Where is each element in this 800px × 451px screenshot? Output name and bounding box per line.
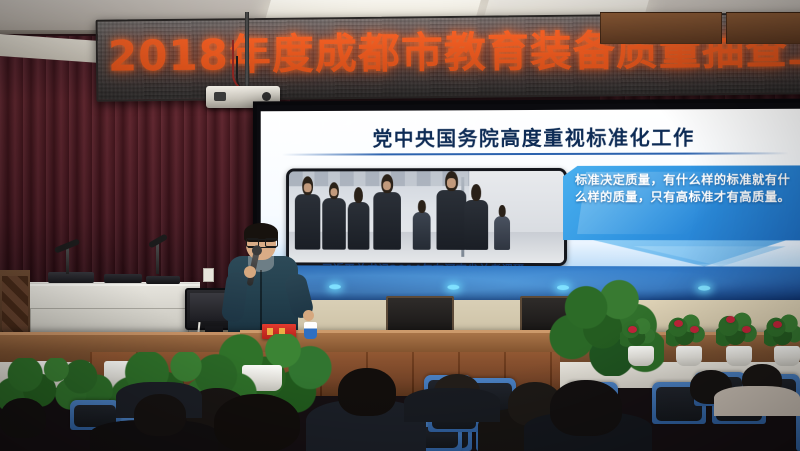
band-glow-dot [447, 285, 459, 290]
slide-title-rule [282, 152, 789, 155]
flower-foliage [764, 312, 800, 350]
photo-figure [413, 212, 431, 250]
audience-head [0, 398, 46, 438]
band-glow-dot [329, 284, 341, 289]
audience-head [214, 394, 300, 451]
flower-foliage [716, 310, 758, 350]
red-flower [742, 326, 751, 333]
photo-figure-face [304, 183, 312, 192]
slide-quote-block: 标准决定质量，有什么样的标准就有什么样的质量，只有高标准才有高质量。 [563, 165, 800, 270]
photo-figure-face [331, 188, 338, 196]
audience-head [550, 380, 622, 436]
photo-figure [464, 200, 488, 250]
audience-shoulders [714, 386, 800, 416]
photo-figure [322, 198, 346, 250]
red-flower [726, 316, 735, 323]
presentation-slide: 党中央国务院高度重视标准化工作 [261, 109, 800, 314]
photo-figure-head [418, 200, 425, 213]
microphone-stand-secondary [156, 244, 159, 274]
audience-shoulders [404, 388, 500, 422]
laptop-device[interactable] [104, 274, 142, 283]
photo-figure [373, 192, 401, 250]
audio-mixer[interactable] [48, 272, 94, 283]
photo-figure-head [471, 184, 481, 201]
slide-title: 党中央国务院高度重视标准化工作 [261, 121, 800, 152]
presenter-glasses [247, 239, 277, 248]
slide-quote-text: 标准决定质量，有什么样的标准就有什么样的质量，只有高标准才有高质量。 [575, 172, 796, 206]
conference-hall-photo: 2018年度成都市教育装备质量抽查工作总结暨质量 党中央国务院高度重视标准化工作 [0, 0, 800, 451]
photo-figure-face [447, 178, 456, 188]
audience-head [338, 368, 396, 416]
podium-wood-panel [726, 12, 800, 44]
red-flower [674, 320, 683, 327]
photo-figure-head [499, 205, 506, 217]
photo-figure [348, 202, 370, 250]
presenter-hand-right [303, 310, 314, 321]
red-flower [773, 321, 782, 328]
photo-figure [437, 190, 467, 250]
slide-photograph [286, 168, 567, 266]
wall-outlet [203, 268, 214, 282]
podium-dark-panel [386, 296, 454, 332]
red-flower [628, 326, 637, 333]
photo-figure-head [354, 187, 363, 203]
presenter-hand-left [244, 266, 256, 278]
photo-figure [494, 216, 510, 250]
projection-screen: 党中央国务院高度重视标准化工作 [253, 99, 800, 322]
band-glow-dot [698, 286, 710, 291]
presenter-at-podium [222, 226, 308, 338]
projector-cable-red [232, 40, 260, 92]
laptop-device-secondary[interactable] [146, 276, 180, 284]
podium-wood-panel [600, 12, 722, 44]
flower-foliage [666, 312, 706, 350]
flower-foliage [620, 316, 656, 350]
audience-head [134, 394, 186, 436]
microphone-stand [66, 248, 69, 274]
red-flower [690, 326, 699, 333]
